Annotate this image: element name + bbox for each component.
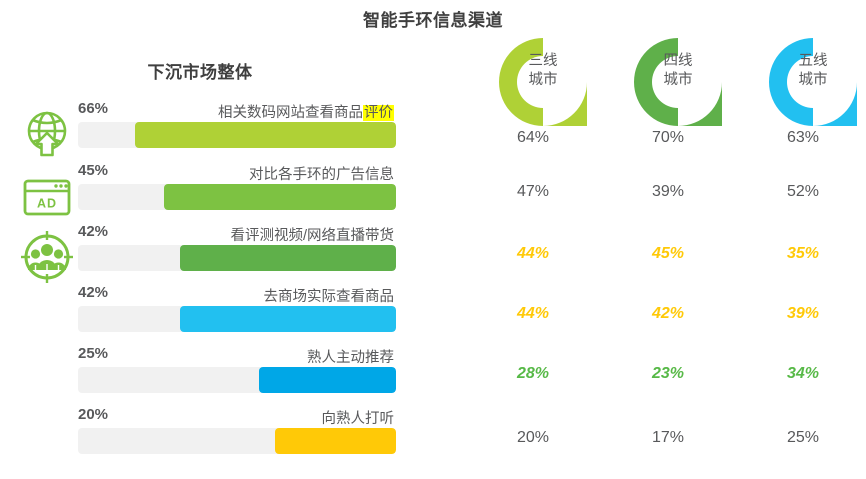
bar-label: 相关数码网站查看商品评价	[218, 101, 394, 122]
tier4-pin-label: 四线 城市	[632, 52, 724, 90]
bar-track	[78, 184, 396, 210]
bar-fill	[135, 122, 396, 148]
svg-text:AD: AD	[37, 197, 57, 211]
cell-value: 64%	[478, 129, 588, 147]
tier3-name-line1: 三线	[497, 52, 589, 71]
cell-value: 70%	[613, 129, 723, 147]
cell-value: 35%	[748, 245, 858, 263]
bar-fill	[180, 245, 396, 271]
city-column-tier5: 五线 城市 63% 52% 35% 39% 34% 25%	[748, 0, 866, 479]
cell-value: 34%	[748, 365, 858, 383]
bar-label: 熟人主动推荐	[307, 346, 394, 367]
city-column-tier4: 四线 城市 70% 39% 45% 42% 23% 17%	[613, 0, 743, 479]
bar-value: 42%	[78, 223, 108, 240]
globe-upload-icon	[18, 105, 76, 163]
tier5-pin-label: 五线 城市	[767, 52, 859, 90]
bar-label: 对比各手环的广告信息	[249, 163, 394, 184]
audience-target-icon	[18, 228, 76, 286]
tier3-pin-label: 三线 城市	[497, 52, 589, 90]
bar-label: 向熟人打听	[322, 407, 395, 428]
bar-track	[78, 306, 396, 332]
bar-row: 66% 相关数码网站查看商品评价	[78, 100, 396, 160]
bar-label: 看评测视频/网络直播带货	[230, 224, 394, 245]
bar-row: 42% 去商场实际查看商品	[78, 284, 396, 344]
cell-value: 42%	[613, 305, 723, 323]
bar-fill	[180, 306, 396, 332]
cell-value: 25%	[748, 429, 858, 447]
bar-value: 66%	[78, 100, 108, 117]
bar-value: 25%	[78, 345, 108, 362]
bar-fill	[259, 367, 396, 393]
cell-value: 28%	[478, 365, 588, 383]
city-tier-panel: 三线 城市 64% 47% 44% 44% 28% 20% 四线 城市 70% …	[420, 0, 866, 479]
bar-value: 20%	[78, 406, 108, 423]
bar-label: 去商场实际查看商品	[264, 285, 395, 306]
bar-track	[78, 428, 396, 454]
bar-row: 45% 对比各手环的广告信息	[78, 162, 396, 222]
ad-browser-icon: AD	[18, 168, 76, 226]
overall-market-panel: 下沉市场整体 AD	[0, 34, 420, 479]
cell-value: 23%	[613, 365, 723, 383]
cell-value: 39%	[748, 305, 858, 323]
bar-value: 45%	[78, 162, 108, 179]
cell-value: 52%	[748, 183, 858, 201]
tier4-name-line2: 城市	[632, 71, 724, 90]
bar-row: 20% 向熟人打听	[78, 406, 396, 466]
cell-value: 44%	[478, 245, 588, 263]
tier3-name-line2: 城市	[497, 71, 589, 90]
cell-value: 45%	[613, 245, 723, 263]
bar-row: 42% 看评测视频/网络直播带货	[78, 223, 396, 283]
city-column-tier3: 三线 城市 64% 47% 44% 44% 28% 20%	[478, 0, 608, 479]
bar-track	[78, 122, 396, 148]
bar-fill	[164, 184, 396, 210]
left-panel-heading: 下沉市场整体	[0, 58, 400, 83]
bar-track	[78, 245, 396, 271]
cell-value: 47%	[478, 183, 588, 201]
tier5-name-line1: 五线	[767, 52, 859, 71]
bar-track	[78, 367, 396, 393]
bar-fill	[275, 428, 396, 454]
tier4-name-line1: 四线	[632, 52, 724, 71]
tier5-name-line2: 城市	[767, 71, 859, 90]
bar-value: 42%	[78, 284, 108, 301]
bar-label-highlight: 评价	[363, 105, 394, 121]
bar-label-text: 相关数码网站查看商品	[218, 105, 363, 121]
cell-value: 63%	[748, 129, 858, 147]
cell-value: 20%	[478, 429, 588, 447]
bar-row: 25% 熟人主动推荐	[78, 345, 396, 405]
cell-value: 17%	[613, 429, 723, 447]
cell-value: 39%	[613, 183, 723, 201]
cell-value: 44%	[478, 305, 588, 323]
